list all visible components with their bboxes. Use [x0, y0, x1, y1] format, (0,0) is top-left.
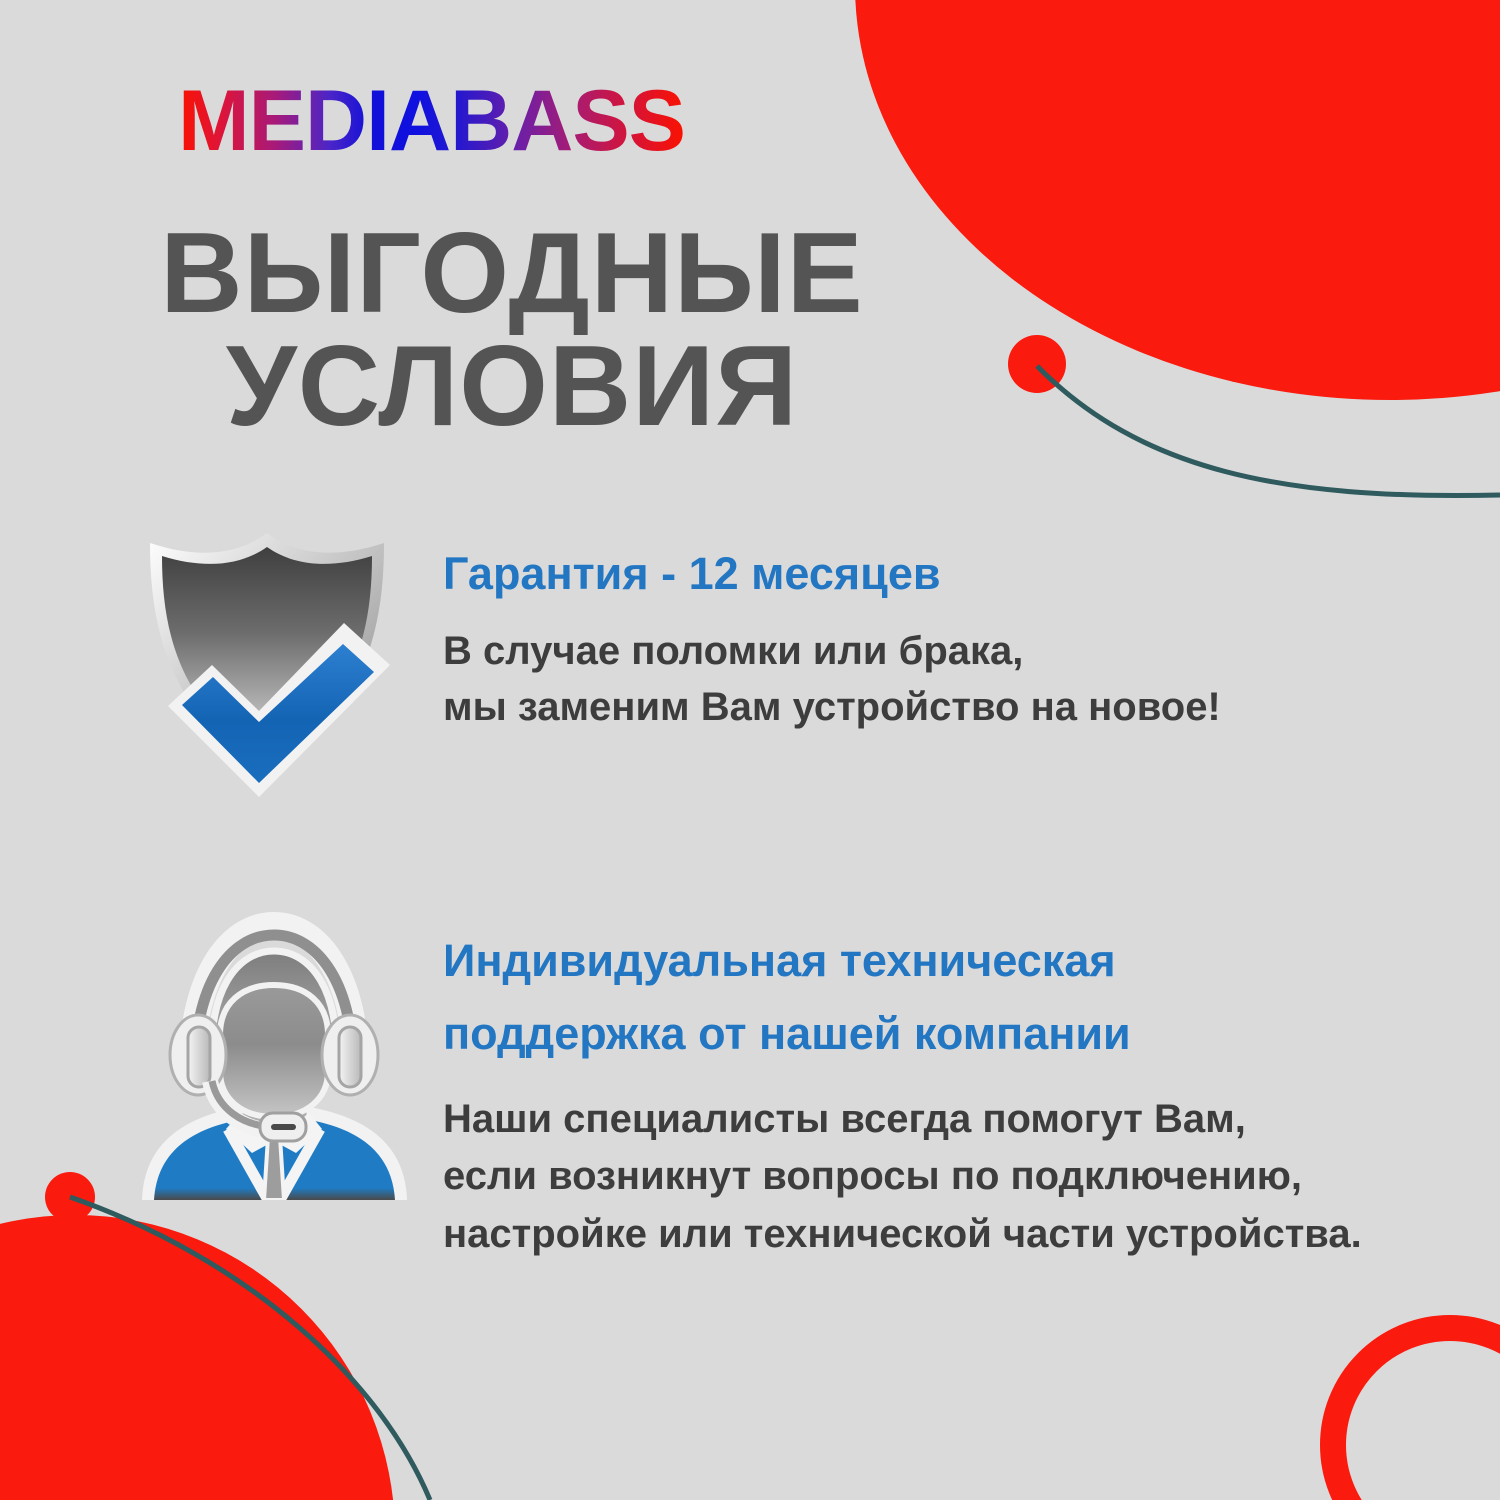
feature-warranty-body: В случае поломки или брака, мы заменим В… [443, 623, 1343, 735]
page-title: ВЫГОДНЫЕ УСЛОВИЯ [72, 218, 952, 444]
promo-poster: MEDIABASS ВЫГОДНЫЕ УСЛОВИЯ [0, 0, 1500, 1500]
feature-support-text: Индивидуальная техническая поддержка от … [443, 925, 1453, 1264]
agent-microphone-grille [271, 1124, 296, 1130]
teal-curve-top-right-path [1037, 366, 1500, 496]
red-dot-top-right-decoration [1008, 335, 1066, 393]
headline-line-2: УСЛОВИЯ [72, 331, 952, 444]
agent-face [220, 985, 328, 1117]
feature-warranty-body-line-2: мы заменим Вам устройство на новое! [443, 679, 1343, 735]
support-agent-icon-container [132, 885, 417, 1200]
support-agent-headset-icon [132, 885, 417, 1200]
agent-tie [264, 1137, 284, 1200]
feature-warranty-title: Гарантия - 12 месяцев [443, 550, 1343, 597]
agent-earcup-right-pad [339, 1027, 361, 1087]
feature-support-body-line-3: настройке или технической части устройст… [443, 1206, 1453, 1264]
brand-logo: MEDIABASS [178, 78, 685, 164]
headline-line-1: ВЫГОДНЫЕ [72, 218, 952, 331]
feature-support-title: Индивидуальная техническая поддержка от … [443, 925, 1453, 1071]
feature-support-body-line-1: Наши специалисты всегда помогут Вам, [443, 1091, 1453, 1149]
red-circle-bottom-left-decoration [0, 1215, 395, 1500]
red-ring-bottom-right-decoration [1320, 1315, 1500, 1500]
feature-support-title-line-2: поддержка от нашей компании [443, 998, 1453, 1071]
feature-support-title-line-1: Индивидуальная техническая [443, 925, 1453, 998]
feature-warranty-text: Гарантия - 12 месяцев В случае поломки и… [443, 550, 1343, 735]
shield-check-icon [138, 525, 396, 797]
feature-support-body: Наши специалисты всегда помогут Вам, есл… [443, 1091, 1453, 1264]
teal-curve-bottom-left-path [70, 1197, 430, 1500]
feature-warranty-body-line-1: В случае поломки или брака, [443, 623, 1343, 679]
red-dot-bottom-left-decoration [45, 1172, 95, 1222]
feature-support-body-line-2: если возникнут вопросы по подключению, [443, 1148, 1453, 1206]
agent-earcup-left-pad [188, 1027, 210, 1087]
shield-check-icon-container [138, 525, 396, 797]
